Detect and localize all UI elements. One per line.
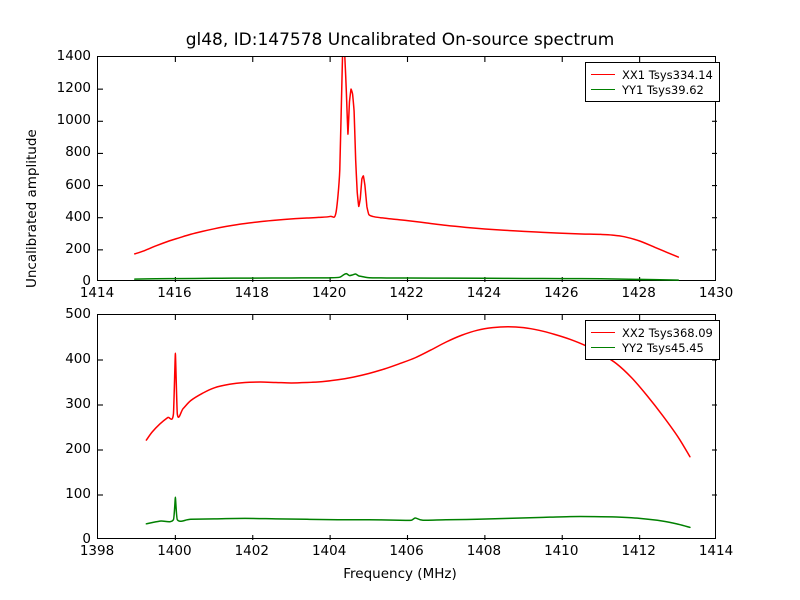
x-tick-label: 1420 — [312, 285, 346, 301]
legend-line-swatch-icon — [591, 347, 615, 348]
top-panel-legend: XX1 Tsys334.14YY1 Tsys39.62 — [585, 62, 720, 102]
legend-line-swatch-icon — [591, 74, 615, 75]
legend-entry: XX2 Tsys368.09 — [591, 325, 713, 340]
x-tick-label: 1426 — [544, 285, 578, 301]
y-tick-label: 400 — [65, 351, 91, 367]
y-tick-label: 400 — [65, 209, 91, 225]
legend-line-swatch-icon — [591, 332, 615, 333]
y-tick-label: 1000 — [57, 112, 91, 128]
y-tick-label: 500 — [65, 306, 91, 322]
legend-label: XX2 Tsys368.09 — [622, 326, 713, 340]
y-tick-label: 800 — [65, 144, 91, 160]
y-tick-label: 600 — [65, 177, 91, 193]
y-tick-label: 200 — [65, 241, 91, 257]
y-tick-label: 0 — [82, 531, 91, 547]
x-tick-label: 1430 — [699, 285, 733, 301]
y-tick-label: 1200 — [57, 80, 91, 96]
y-tick-label: 300 — [65, 396, 91, 412]
x-tick-label: 1428 — [621, 285, 655, 301]
x-tick-label: 1408 — [467, 543, 501, 559]
y-tick-label: 100 — [65, 486, 91, 502]
x-tick-label: 1400 — [157, 543, 191, 559]
y-tick-label: 0 — [82, 273, 91, 289]
bottom-panel-x-axis-label: Frequency (MHz) — [0, 566, 800, 582]
x-tick-label: 1410 — [544, 543, 578, 559]
series-line-bottom-1 — [146, 497, 690, 527]
legend-label: YY1 Tsys39.62 — [622, 83, 704, 97]
top-panel-y-axis-label: Uncalibrated amplitude — [24, 129, 40, 288]
spectrum-figure: gl48, ID:147578 Uncalibrated On-source s… — [0, 0, 800, 600]
legend-label: XX1 Tsys334.14 — [622, 68, 713, 82]
legend-label: YY2 Tsys45.45 — [622, 341, 704, 355]
legend-entry: YY1 Tsys39.62 — [591, 82, 713, 97]
y-tick-label: 200 — [65, 441, 91, 457]
legend-line-swatch-icon — [591, 89, 615, 90]
legend-entry: XX1 Tsys334.14 — [591, 67, 713, 82]
bottom-panel-legend: XX2 Tsys368.09YY2 Tsys45.45 — [585, 320, 720, 360]
x-tick-label: 1422 — [389, 285, 423, 301]
y-tick-label: 1400 — [57, 48, 91, 64]
page-title: gl48, ID:147578 Uncalibrated On-source s… — [0, 30, 800, 50]
x-tick-label: 1416 — [157, 285, 191, 301]
x-tick-label: 1418 — [235, 285, 269, 301]
legend-entry: YY2 Tsys45.45 — [591, 340, 713, 355]
series-line-top-1 — [135, 274, 679, 280]
x-tick-label: 1402 — [235, 543, 269, 559]
x-tick-label: 1412 — [621, 543, 655, 559]
x-tick-label: 1424 — [467, 285, 501, 301]
x-tick-label: 1404 — [312, 543, 346, 559]
x-tick-label: 1406 — [389, 543, 423, 559]
x-tick-label: 1414 — [699, 543, 733, 559]
